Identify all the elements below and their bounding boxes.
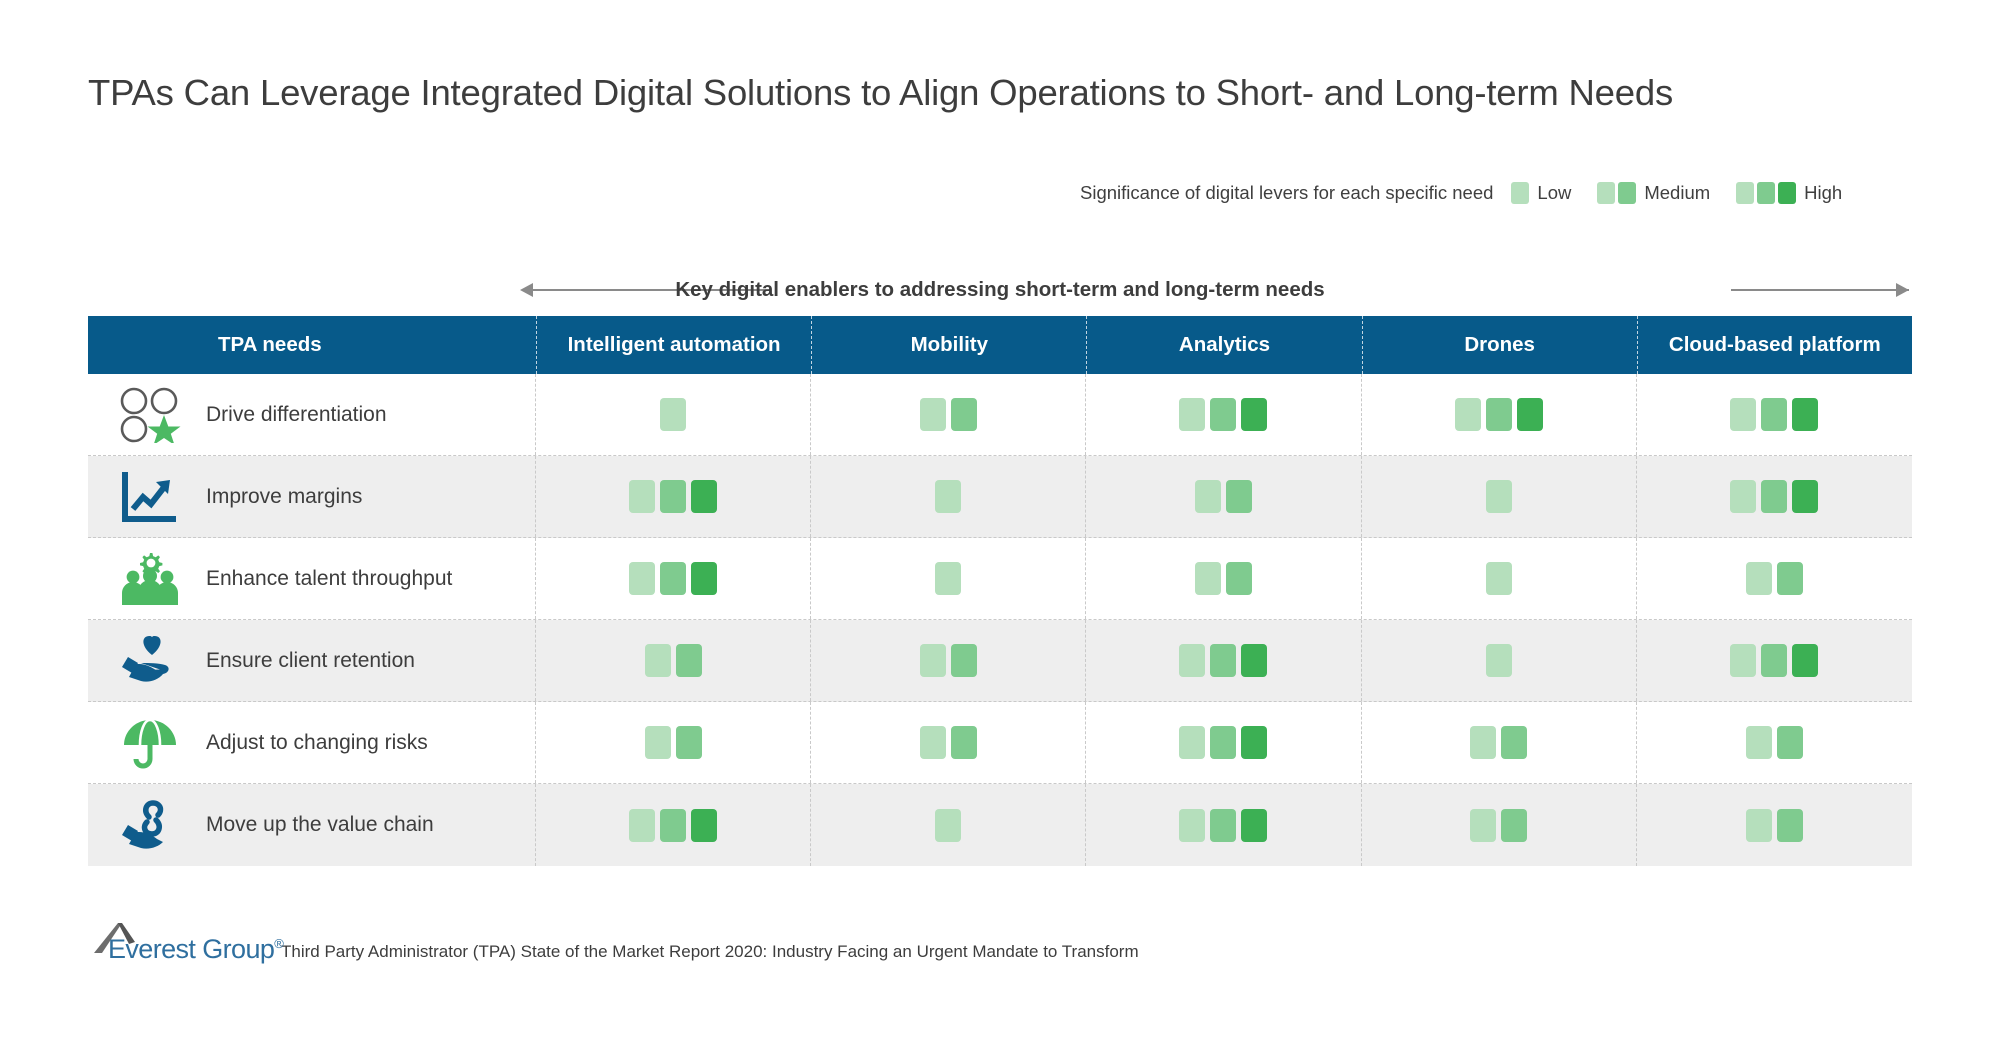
cell-analytics [1086, 374, 1361, 455]
rating-r6-c5 [1746, 809, 1803, 842]
rating-r5-c1 [645, 726, 702, 759]
umbrella-icon [108, 715, 192, 771]
table-row: Ensure client retention [88, 620, 1912, 702]
rating-square [1210, 809, 1236, 842]
cell-analytics [1086, 784, 1361, 866]
rating-square [1470, 726, 1496, 759]
arrow-right-line [1731, 289, 1909, 291]
cell-intelligent-automation [536, 620, 811, 701]
need-label: Enhance talent throughput [206, 567, 452, 591]
legend-swatch-high-1 [1736, 182, 1754, 204]
cell-cloud-based-platform [1637, 702, 1912, 783]
rating-square [1730, 644, 1756, 677]
table-row: Drive differentiation [88, 374, 1912, 456]
legend-swatch-medium-1 [1597, 182, 1615, 204]
cell-drones [1362, 456, 1637, 537]
rating-square [935, 809, 961, 842]
rating-square [1195, 562, 1221, 595]
rating-r2-c1 [629, 480, 717, 513]
column-header-intelligent-automation: Intelligent automation [536, 316, 811, 374]
rating-square [645, 644, 671, 677]
rating-square [1517, 398, 1543, 431]
rating-square [1210, 398, 1236, 431]
rating-square [691, 562, 717, 595]
rating-square [1470, 809, 1496, 842]
rating-r4-c2 [920, 644, 977, 677]
rating-r6-c2 [935, 809, 961, 842]
rating-square [660, 480, 686, 513]
rating-r4-c1 [645, 644, 702, 677]
rating-square [1501, 726, 1527, 759]
rating-square [1226, 480, 1252, 513]
logo-wordmark: Everest Group® [108, 934, 283, 965]
rating-square [1761, 480, 1787, 513]
legend-swatch-high-2 [1757, 182, 1775, 204]
legend-item-low: Low [1511, 182, 1571, 204]
rating-r1-c5 [1730, 398, 1818, 431]
cell-intelligent-automation [536, 702, 811, 783]
rating-square [1501, 809, 1527, 842]
cell-drones [1362, 538, 1637, 619]
need-label: Improve margins [206, 485, 362, 509]
cell-intelligent-automation [536, 784, 811, 866]
rating-square [629, 480, 655, 513]
column-header-mobility: Mobility [811, 316, 1086, 374]
cell-intelligent-automation [536, 374, 811, 455]
rating-square [660, 398, 686, 431]
table-row: Adjust to changing risks [88, 702, 1912, 784]
legend-label-medium: Medium [1644, 182, 1710, 204]
rating-r6-c4 [1470, 809, 1527, 842]
rating-square [1241, 398, 1267, 431]
rating-square [1730, 480, 1756, 513]
cell-analytics [1086, 702, 1361, 783]
cell-need: Adjust to changing risks [88, 702, 536, 783]
footer: Everest Group® Third Party Administrator… [88, 920, 1139, 966]
rating-square [920, 398, 946, 431]
rating-r3-c3 [1195, 562, 1252, 595]
legend-swatch-high-3 [1778, 182, 1796, 204]
legend-label-low: Low [1537, 182, 1571, 204]
page-title: TPAs Can Leverage Integrated Digital Sol… [88, 72, 1928, 114]
rating-r5-c2 [920, 726, 977, 759]
rating-square [1486, 480, 1512, 513]
cell-need: Drive differentiation [88, 374, 536, 455]
rating-square [1792, 644, 1818, 677]
rating-r4-c5 [1730, 644, 1818, 677]
legend-item-medium: Medium [1597, 182, 1710, 204]
rating-square [920, 726, 946, 759]
legend: Significance of digital levers for each … [1080, 180, 1842, 206]
rating-square [1746, 809, 1772, 842]
cell-intelligent-automation [536, 538, 811, 619]
cell-analytics [1086, 620, 1361, 701]
cell-need: Improve margins [88, 456, 536, 537]
rating-square [920, 644, 946, 677]
rating-r5-c5 [1746, 726, 1803, 759]
rating-square [951, 644, 977, 677]
rating-square [660, 809, 686, 842]
rating-square [1195, 480, 1221, 513]
enablers-band: Key digital enablers to addressing short… [88, 268, 1912, 312]
rating-square [935, 562, 961, 595]
rating-r3-c1 [629, 562, 717, 595]
cell-mobility [811, 538, 1086, 619]
column-header-analytics: Analytics [1086, 316, 1361, 374]
table-row: Enhance talent throughput [88, 538, 1912, 620]
column-header-cloud-based-platform: Cloud-based platform [1637, 316, 1912, 374]
rating-r6-c3 [1179, 809, 1267, 842]
rating-square [691, 480, 717, 513]
cell-drones [1362, 784, 1637, 866]
rating-r5-c3 [1179, 726, 1267, 759]
cell-mobility [811, 784, 1086, 866]
rating-square [1241, 809, 1267, 842]
cell-analytics [1086, 538, 1361, 619]
rating-square [935, 480, 961, 513]
rating-r2-c4 [1486, 480, 1512, 513]
rating-square [660, 562, 686, 595]
hand-chain-link-icon [108, 797, 192, 853]
circles-star-icon [108, 387, 192, 443]
rating-square [1210, 644, 1236, 677]
rating-square [1486, 398, 1512, 431]
legend-label-high: High [1804, 182, 1842, 204]
cell-mobility [811, 702, 1086, 783]
need-label: Drive differentiation [206, 403, 387, 427]
cell-intelligent-automation [536, 456, 811, 537]
rating-square [1761, 644, 1787, 677]
rating-square [1761, 398, 1787, 431]
cell-drones [1362, 374, 1637, 455]
rating-r4-c3 [1179, 644, 1267, 677]
rating-square [1777, 726, 1803, 759]
cell-drones [1362, 702, 1637, 783]
legend-swatches-high [1736, 182, 1796, 204]
everest-group-logo: Everest Group® [88, 920, 273, 966]
cell-need: Move up the value chain [88, 784, 536, 866]
column-header-tpa-needs: TPA needs [88, 316, 536, 374]
rating-r1-c3 [1179, 398, 1267, 431]
rating-square [676, 644, 702, 677]
slide-canvas: TPAs Can Leverage Integrated Digital Sol… [0, 0, 2000, 1047]
rating-square [951, 726, 977, 759]
legend-swatch-low-1 [1511, 182, 1529, 204]
rating-square [951, 398, 977, 431]
legend-swatch-medium-2 [1618, 182, 1636, 204]
enablers-caption: Key digital enablers to addressing short… [88, 268, 1912, 312]
rating-square [1486, 562, 1512, 595]
rating-square [1486, 644, 1512, 677]
rating-r1-c2 [920, 398, 977, 431]
rating-square [1746, 726, 1772, 759]
rating-r1-c1 [660, 398, 686, 431]
rating-square [1179, 726, 1205, 759]
rating-square [1746, 562, 1772, 595]
cell-need: Enhance talent throughput [88, 538, 536, 619]
table-header-row: TPA needs Intelligent automation Mobilit… [88, 316, 1912, 374]
cell-cloud-based-platform [1637, 538, 1912, 619]
rating-r4-c4 [1486, 644, 1512, 677]
logo-brand-text: Everest Group [108, 934, 274, 964]
rating-square [1777, 562, 1803, 595]
cell-cloud-based-platform [1637, 374, 1912, 455]
rating-square [1792, 398, 1818, 431]
cell-need: Ensure client retention [88, 620, 536, 701]
hand-heart-icon [108, 633, 192, 689]
cell-mobility [811, 456, 1086, 537]
rating-r2-c2 [935, 480, 961, 513]
table-row: Move up the value chain [88, 784, 1912, 866]
column-header-drones: Drones [1362, 316, 1637, 374]
cell-analytics [1086, 456, 1361, 537]
rating-r5-c4 [1470, 726, 1527, 759]
rating-square [645, 726, 671, 759]
rating-square [1241, 644, 1267, 677]
need-label: Ensure client retention [206, 649, 415, 673]
table-row: Improve margins [88, 456, 1912, 538]
growth-chart-icon [108, 469, 192, 525]
legend-description: Significance of digital levers for each … [1080, 182, 1493, 204]
rating-r2-c3 [1195, 480, 1252, 513]
rating-square [1455, 398, 1481, 431]
rating-square [1777, 809, 1803, 842]
legend-swatches-medium [1597, 182, 1636, 204]
rating-square [1792, 480, 1818, 513]
cell-mobility [811, 374, 1086, 455]
rating-r3-c4 [1486, 562, 1512, 595]
rating-r3-c5 [1746, 562, 1803, 595]
need-label: Adjust to changing risks [206, 731, 428, 755]
rating-square [691, 809, 717, 842]
legend-item-high: High [1736, 182, 1842, 204]
cell-cloud-based-platform [1637, 456, 1912, 537]
registered-mark: ® [274, 936, 283, 951]
cell-cloud-based-platform [1637, 620, 1912, 701]
rating-square [1241, 726, 1267, 759]
cell-drones [1362, 620, 1637, 701]
rating-square [1179, 809, 1205, 842]
arrow-right-icon [1896, 283, 1909, 297]
legend-swatches-low [1511, 182, 1529, 204]
needs-enablers-table: TPA needs Intelligent automation Mobilit… [88, 316, 1912, 866]
rating-r2-c5 [1730, 480, 1818, 513]
cell-cloud-based-platform [1637, 784, 1912, 866]
need-label: Move up the value chain [206, 813, 434, 837]
table-body: Drive differentiationImprove marginsEnha… [88, 374, 1912, 866]
rating-square [629, 562, 655, 595]
rating-square [1179, 644, 1205, 677]
footer-note: Third Party Administrator (TPA) State of… [281, 942, 1139, 962]
rating-square [676, 726, 702, 759]
rating-square [1179, 398, 1205, 431]
rating-r3-c2 [935, 562, 961, 595]
rating-square [629, 809, 655, 842]
rating-square [1210, 726, 1236, 759]
rating-r6-c1 [629, 809, 717, 842]
rating-r1-c4 [1455, 398, 1543, 431]
cell-mobility [811, 620, 1086, 701]
people-gear-icon [108, 551, 192, 607]
rating-square [1226, 562, 1252, 595]
rating-square [1730, 398, 1756, 431]
